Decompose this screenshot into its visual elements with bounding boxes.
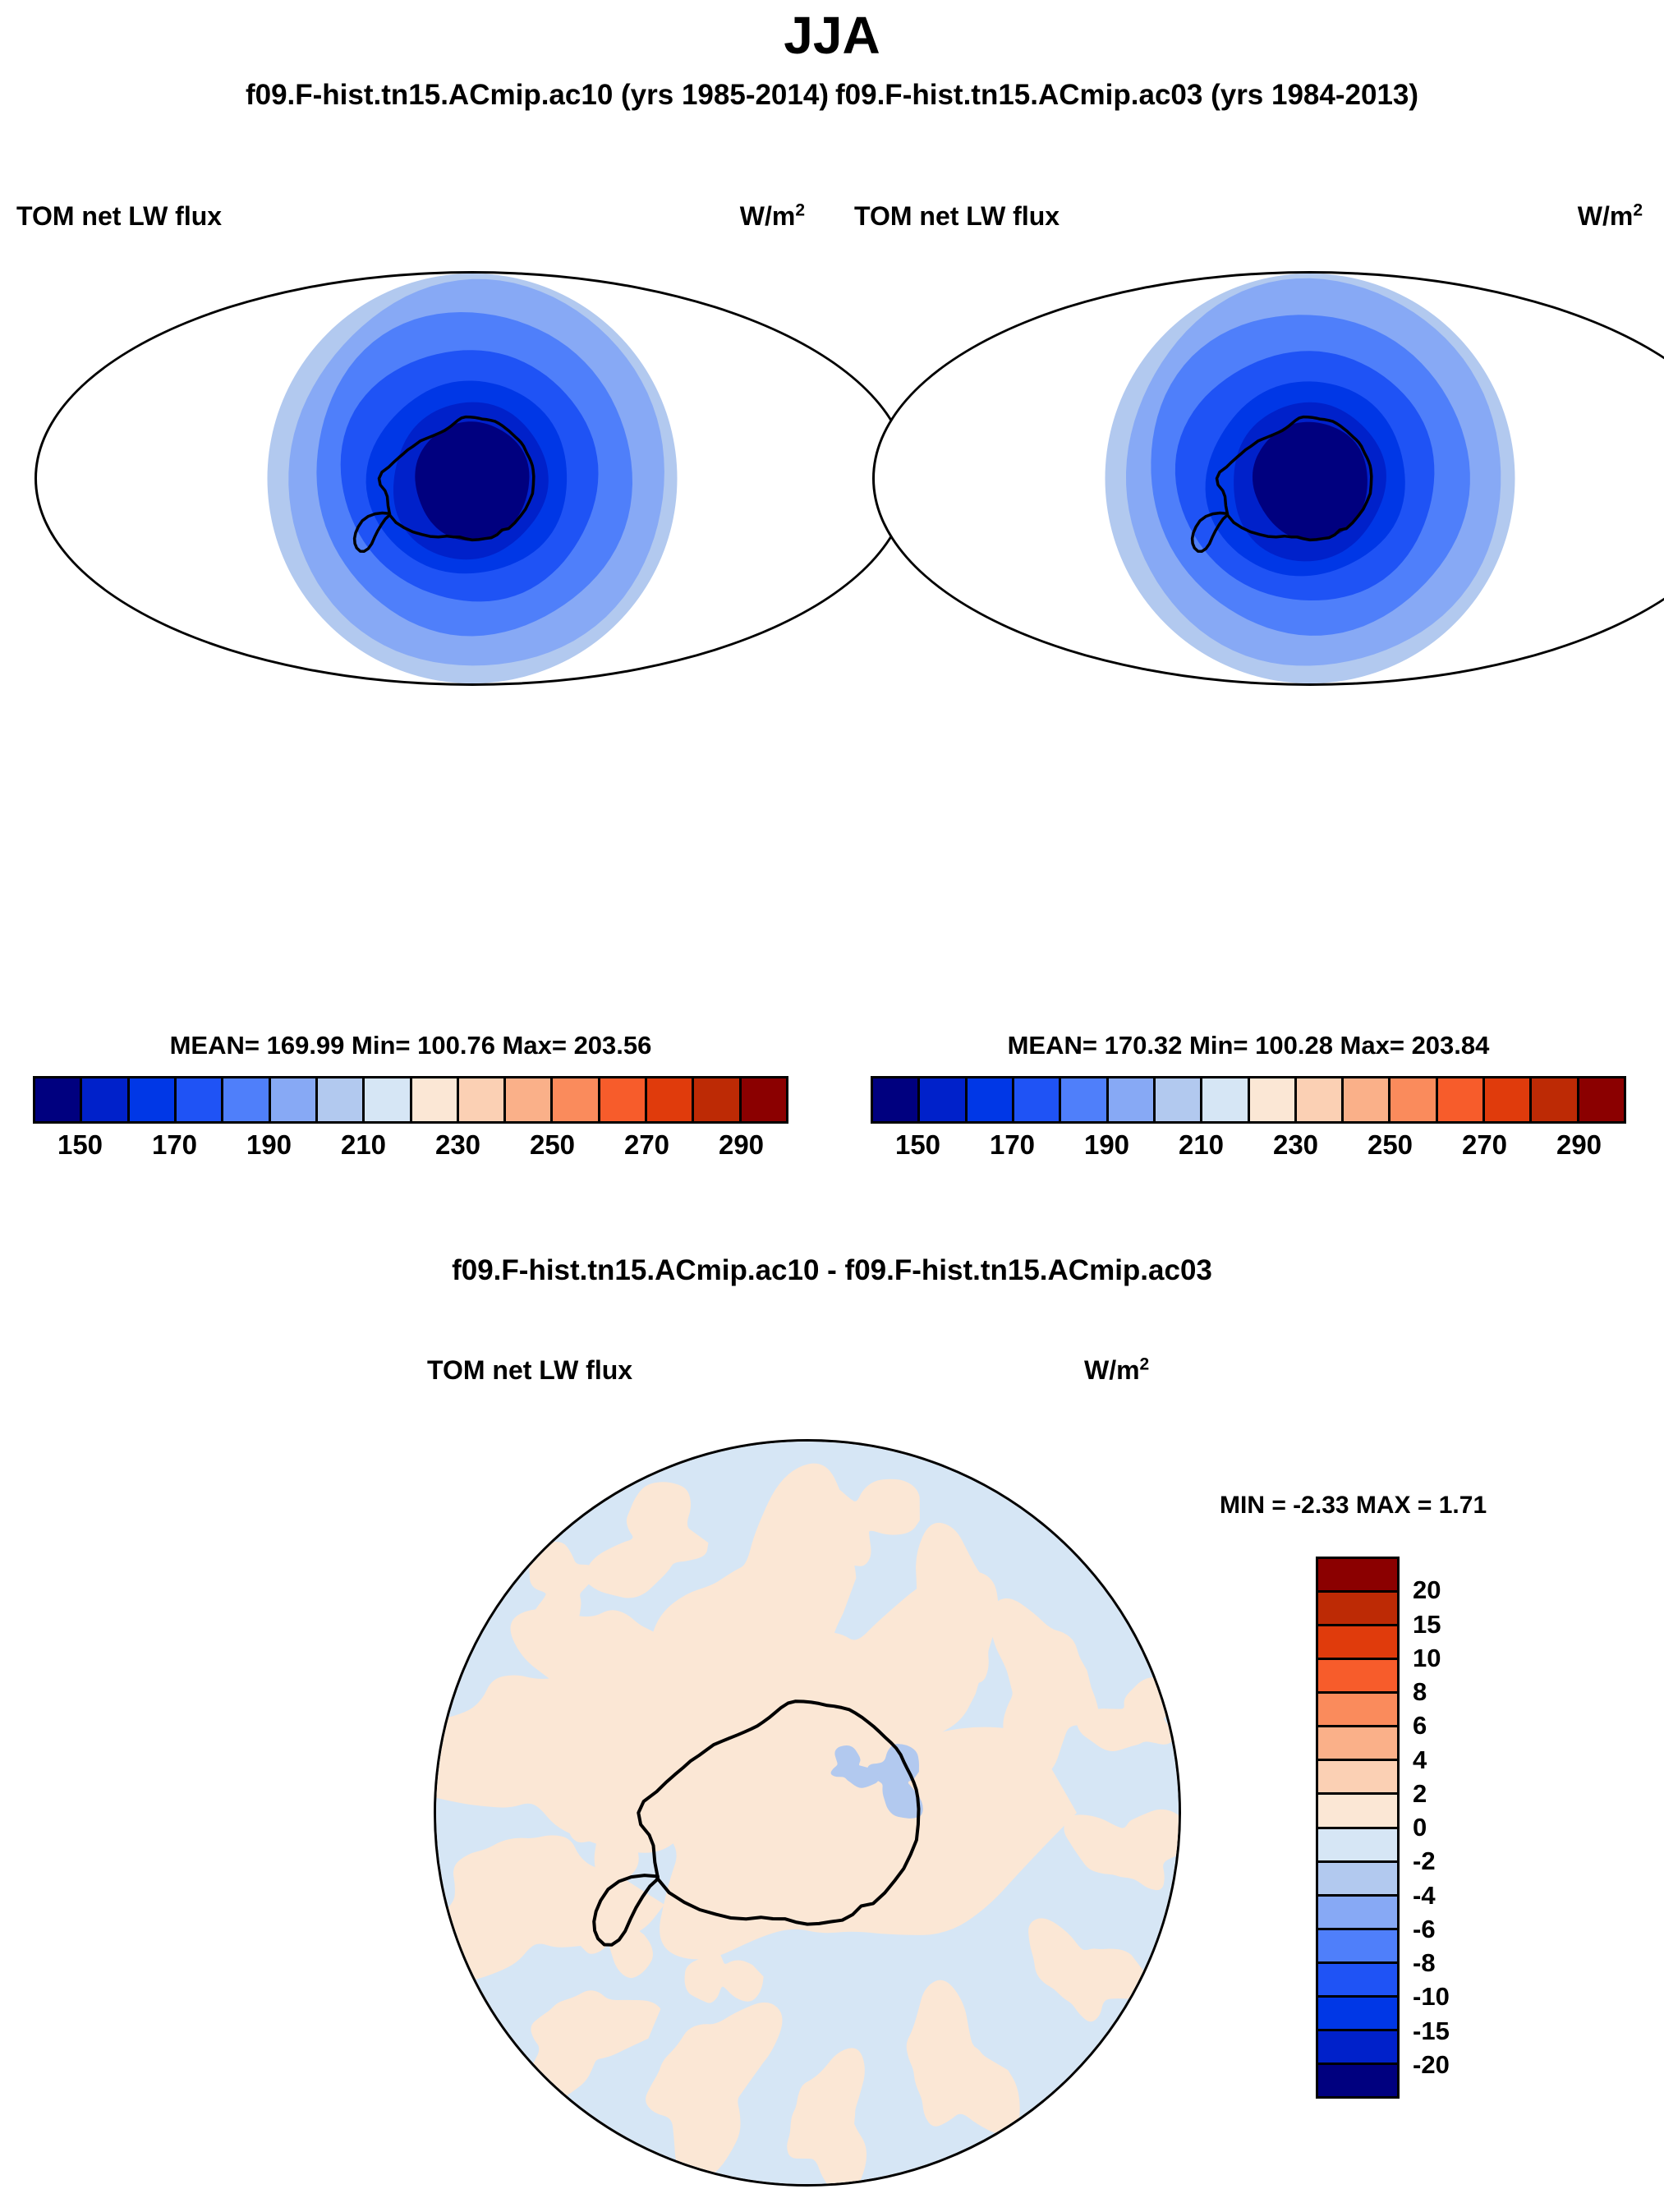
colorbar-cell <box>177 1078 223 1121</box>
map-difference <box>434 1439 1181 2187</box>
colorbar-tick-label: 290 <box>719 1129 764 1161</box>
colorbar-cell <box>1109 1078 1156 1121</box>
colorbar-cell <box>1532 1078 1579 1121</box>
colorbar-cell <box>223 1078 270 1121</box>
panel-difference: TOM net LW flux W/m2 MIN = -2.33 MAX = 1… <box>0 1347 1664 2212</box>
colorbar-cell <box>1318 1626 1397 1660</box>
colorbar-cell <box>1297 1078 1344 1121</box>
colorbar-cell <box>412 1078 459 1121</box>
colorbar-cell <box>1250 1078 1297 1121</box>
colorbar-tick-label: 0 <box>1413 1813 1427 1842</box>
colorbar-cell <box>1318 2065 1397 2096</box>
colorbar-cell <box>1318 1964 1397 1998</box>
colorbar-cell <box>647 1078 694 1121</box>
panel-left-stats: MEAN= 169.99 Min= 100.76 Max= 203.56 <box>16 1031 805 1060</box>
colorbar-tick-label: 150 <box>57 1129 103 1161</box>
colorbar-tick-label: 270 <box>1462 1129 1507 1161</box>
colorbar-cell <box>968 1078 1014 1121</box>
colorbar-tick-label: -6 <box>1413 1915 1436 1944</box>
colorbar-cell <box>1390 1078 1437 1121</box>
panel-right-stats: MEAN= 170.32 Min= 100.28 Max= 203.84 <box>854 1031 1643 1060</box>
colorbar-cell <box>318 1078 365 1121</box>
difference-minmax-label: MIN = -2.33 MAX = 1.71 <box>1220 1492 1487 1520</box>
colorbar-cell <box>920 1078 967 1121</box>
colorbar-tick-label: 15 <box>1413 1610 1441 1639</box>
colorbar-tick-label: -20 <box>1413 2050 1450 2080</box>
colorbar-cell <box>1318 1829 1397 1863</box>
case-a-label: f09.F-hist.tn15.ACmip.ac10 (yrs 1985-201… <box>242 79 832 111</box>
colorbar-difference[interactable] <box>1316 1557 1400 2099</box>
colorbar-tick-label: 210 <box>1179 1129 1224 1161</box>
colorbar-cell <box>1061 1078 1108 1121</box>
panel-right-variable-label: TOM net LW flux <box>854 201 1060 232</box>
colorbar-cell <box>1579 1078 1624 1121</box>
colorbar-cell <box>1438 1078 1485 1121</box>
colorbar-cell <box>1318 1660 1397 1694</box>
colorbar-cell <box>506 1078 553 1121</box>
colorbar-right[interactable] <box>871 1076 1626 1124</box>
colorbar-cell <box>130 1078 177 1121</box>
colorbar-cell <box>1318 1761 1397 1795</box>
colorbar-tick-label: 6 <box>1413 1711 1427 1741</box>
colorbar-tick-label: 170 <box>990 1129 1035 1161</box>
colorbar-cell <box>1156 1078 1202 1121</box>
colorbar-tick-label: 150 <box>895 1129 940 1161</box>
colorbar-cell <box>694 1078 741 1121</box>
colorbar-cell <box>1014 1078 1061 1121</box>
colorbar-tick-label: -15 <box>1413 2017 1450 2046</box>
colorbar-cell <box>1318 1795 1397 1828</box>
panel-left-units-label: W/m2 <box>740 201 805 232</box>
colorbar-cell <box>271 1078 318 1121</box>
colorbar-tick-label: 230 <box>1273 1129 1318 1161</box>
colorbar-cell <box>1318 1559 1397 1593</box>
difference-title: f09.F-hist.tn15.ACmip.ac10 - f09.F-hist.… <box>0 1254 1664 1287</box>
colorbar-tick-label: 20 <box>1413 1575 1441 1605</box>
colorbar-tick-label: 250 <box>530 1129 575 1161</box>
colorbar-cell <box>1318 1694 1397 1727</box>
colorbar-right-ticks: 150170190210230250270290 <box>871 1129 1626 1166</box>
colorbar-cell <box>35 1078 82 1121</box>
case-b-label: f09.F-hist.tn15.ACmip.ac03 (yrs 1984-201… <box>832 79 1422 111</box>
colorbar-cell <box>1318 1930 1397 1964</box>
panel-left-variable-label: TOM net LW flux <box>16 201 222 232</box>
colorbar-tick-label: 10 <box>1413 1644 1441 1673</box>
colorbar-left[interactable] <box>33 1076 788 1124</box>
colorbar-tick-label: 290 <box>1556 1129 1602 1161</box>
colorbar-cell <box>1344 1078 1390 1121</box>
map-left-absolute <box>34 271 910 686</box>
colorbar-tick-label: 190 <box>1084 1129 1129 1161</box>
case-subtitle: f09.F-hist.tn15.ACmip.ac10 (yrs 1985-201… <box>0 79 1664 112</box>
units-exponent: 2 <box>1140 1354 1150 1373</box>
colorbar-tick-label: 230 <box>435 1129 480 1161</box>
colorbar-cell <box>1318 1727 1397 1761</box>
colorbar-tick-label: 2 <box>1413 1779 1427 1809</box>
colorbar-tick-label: 270 <box>624 1129 669 1161</box>
colorbar-cell <box>82 1078 129 1121</box>
units-exponent: 2 <box>795 200 805 219</box>
colorbar-cell <box>459 1078 506 1121</box>
contour-band <box>415 421 529 540</box>
colorbar-cell <box>1318 1593 1397 1626</box>
colorbar-tick-label: 250 <box>1368 1129 1413 1161</box>
panel-left: TOM net LW flux W/m2 MEAN= 169.99 Min= 1… <box>16 181 805 1224</box>
colorbar-left-ticks: 150170190210230250270290 <box>33 1129 788 1166</box>
colorbar-cell <box>1318 1897 1397 1930</box>
panel-right-units-label: W/m2 <box>1578 201 1643 232</box>
season-title: JJA <box>0 5 1664 66</box>
panel-diff-units-label: W/m2 <box>1084 1355 1149 1386</box>
units-exponent: 2 <box>1633 200 1643 219</box>
panel-right: TOM net LW flux W/m2 MEAN= 170.32 Min= 1… <box>854 181 1643 1224</box>
colorbar-tick-label: 170 <box>152 1129 197 1161</box>
colorbar-cell <box>553 1078 600 1121</box>
colorbar-cell <box>1202 1078 1249 1121</box>
colorbar-cell <box>600 1078 647 1121</box>
colorbar-tick-label: 8 <box>1413 1677 1427 1707</box>
colorbar-cell <box>742 1078 786 1121</box>
colorbar-tick-label: 210 <box>341 1129 386 1161</box>
colorbar-tick-label: 4 <box>1413 1745 1427 1775</box>
colorbar-cell <box>1318 2031 1397 2065</box>
colorbar-cell <box>873 1078 920 1121</box>
colorbar-tick-label: -2 <box>1413 1846 1436 1876</box>
colorbar-cell <box>365 1078 411 1121</box>
colorbar-cell <box>1318 1863 1397 1897</box>
colorbar-tick-label: -10 <box>1413 1982 1450 2012</box>
panel-diff-variable-label: TOM net LW flux <box>427 1355 632 1386</box>
map-right-absolute <box>872 271 1664 686</box>
colorbar-tick-label: -8 <box>1413 1948 1436 1978</box>
colorbar-cell <box>1485 1078 1532 1121</box>
colorbar-tick-label: 190 <box>246 1129 292 1161</box>
colorbar-cell <box>1318 1998 1397 2031</box>
colorbar-tick-label: -4 <box>1413 1881 1436 1911</box>
